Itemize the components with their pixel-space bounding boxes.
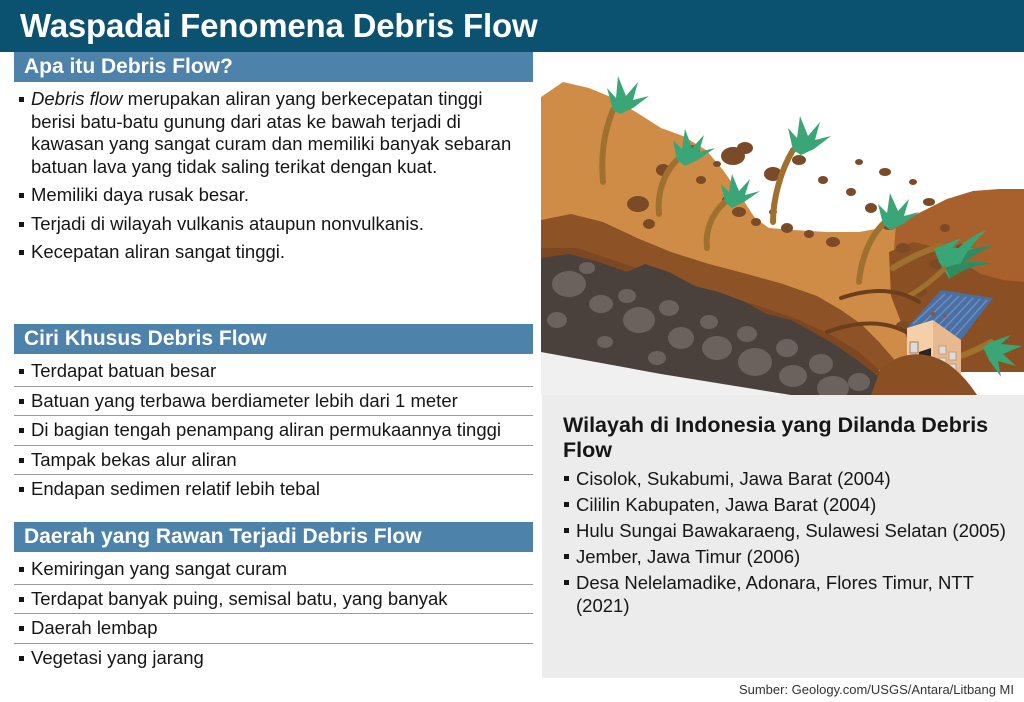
debris-flow-illustration (541, 52, 1024, 395)
bullet-list-apa-itu: Debris flow merupakan aliran yang berkec… (14, 88, 520, 264)
list-item: Kecepatan aliran sangat tinggi. (14, 241, 520, 264)
list-item: Kemiringan yang sangat curam (14, 555, 533, 585)
infographic-root: Waspadai Fenomena Debris Flow Apa itu De… (0, 0, 1024, 702)
list-item: Cisolok, Sukabumi, Jawa Barat (2004) (561, 467, 1013, 490)
section-header-label: Apa itu Debris Flow? (24, 55, 233, 79)
list-item: Batuan yang terbawa berdiameter lebih da… (14, 387, 533, 417)
list-item: Di bagian tengah penampang aliran permuk… (14, 416, 533, 446)
section-header-apa-itu: Apa itu Debris Flow? (14, 52, 533, 82)
list-item: Endapan sedimen relatif lebih tebal (14, 475, 533, 504)
source-credit: Sumber: Geology.com/USGS/Antara/Litbang … (739, 682, 1014, 697)
bullet-list-daerah-rawan: Kemiringan yang sangat curam Terdapat ba… (14, 555, 533, 672)
list-item: Jember, Jawa Timur (2006) (561, 545, 1013, 568)
italic-term: Debris flow (31, 88, 123, 109)
title-bar: Waspadai Fenomena Debris Flow (0, 0, 1024, 52)
list-item: Memiliki daya rusak besar. (14, 184, 520, 207)
section-ciri-khusus: Ciri Khusus Debris Flow Terdapat batuan … (0, 324, 537, 504)
section-header-ciri-khusus: Ciri Khusus Debris Flow (14, 324, 533, 354)
left-column: Apa itu Debris Flow? Debris flow merupak… (0, 52, 537, 702)
list-item: Terdapat batuan besar (14, 357, 533, 387)
region-panel-title: Wilayah di Indonesia yang Dilanda Debris… (563, 413, 993, 463)
region-list: Cisolok, Sukabumi, Jawa Barat (2004) Cil… (561, 467, 1013, 620)
section-header-daerah-rawan: Daerah yang Rawan Terjadi Debris Flow (14, 522, 533, 552)
house-window (910, 342, 918, 353)
list-item: Cililin Kabupaten, Jawa Barat (2004) (561, 493, 1013, 516)
section-header-label: Daerah yang Rawan Terjadi Debris Flow (24, 525, 422, 549)
list-item: Terdapat banyak puing, semisal batu, yan… (14, 585, 533, 615)
section-header-label: Ciri Khusus Debris Flow (24, 327, 267, 351)
list-item: Debris flow merupakan aliran yang berkec… (14, 88, 520, 178)
list-item: Vegetasi yang jarang (14, 644, 533, 673)
list-item: Hulu Sungai Bawakaraeng, Sulawesi Selata… (561, 519, 1013, 542)
page-title: Waspadai Fenomena Debris Flow (20, 7, 537, 45)
list-item: Tampak bekas alur aliran (14, 446, 533, 476)
list-item: Daerah lembap (14, 614, 533, 644)
list-item: Terjadi di wilayah vulkanis ataupun nonv… (14, 213, 520, 236)
bullet-list-ciri-khusus: Terdapat batuan besar Batuan yang terbaw… (14, 357, 533, 504)
section-apa-itu: Apa itu Debris Flow? Debris flow merupak… (0, 52, 537, 270)
section-daerah-rawan: Daerah yang Rawan Terjadi Debris Flow Ke… (0, 522, 537, 672)
list-item: Desa Nelelamadike, Adonara, Flores Timur… (561, 571, 1013, 617)
region-panel: Wilayah di Indonesia yang Dilanda Debris… (542, 395, 1024, 678)
